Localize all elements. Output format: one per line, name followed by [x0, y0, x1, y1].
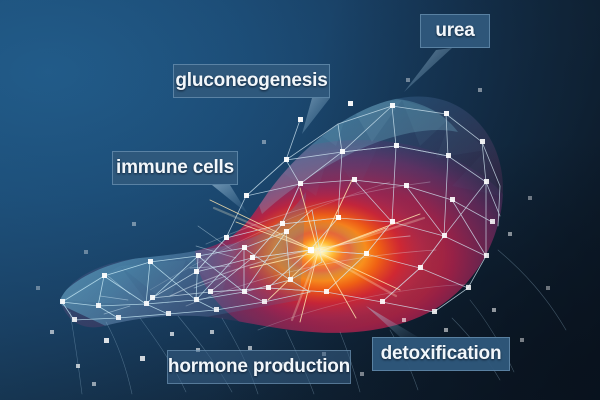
- label-detoxification[interactable]: detoxification: [372, 337, 510, 371]
- label-urea[interactable]: urea: [420, 14, 490, 48]
- label-hormone-production-text: hormone production: [168, 356, 350, 378]
- illustration-canvas: urea gluconeogenesis immune cells hormon…: [0, 0, 600, 400]
- label-detoxification-text: detoxification: [381, 343, 502, 365]
- liver-network-graphic: [0, 0, 600, 400]
- label-gluconeogenesis-text: gluconeogenesis: [175, 70, 327, 92]
- pointer-gluconeogenesis: [302, 98, 330, 134]
- label-hormone-production[interactable]: hormone production: [167, 350, 351, 384]
- label-immune-cells-text: immune cells: [116, 157, 234, 179]
- label-gluconeogenesis[interactable]: gluconeogenesis: [173, 64, 330, 98]
- label-urea-text: urea: [435, 20, 474, 42]
- label-immune-cells[interactable]: immune cells: [112, 151, 238, 185]
- pointer-urea: [404, 48, 452, 92]
